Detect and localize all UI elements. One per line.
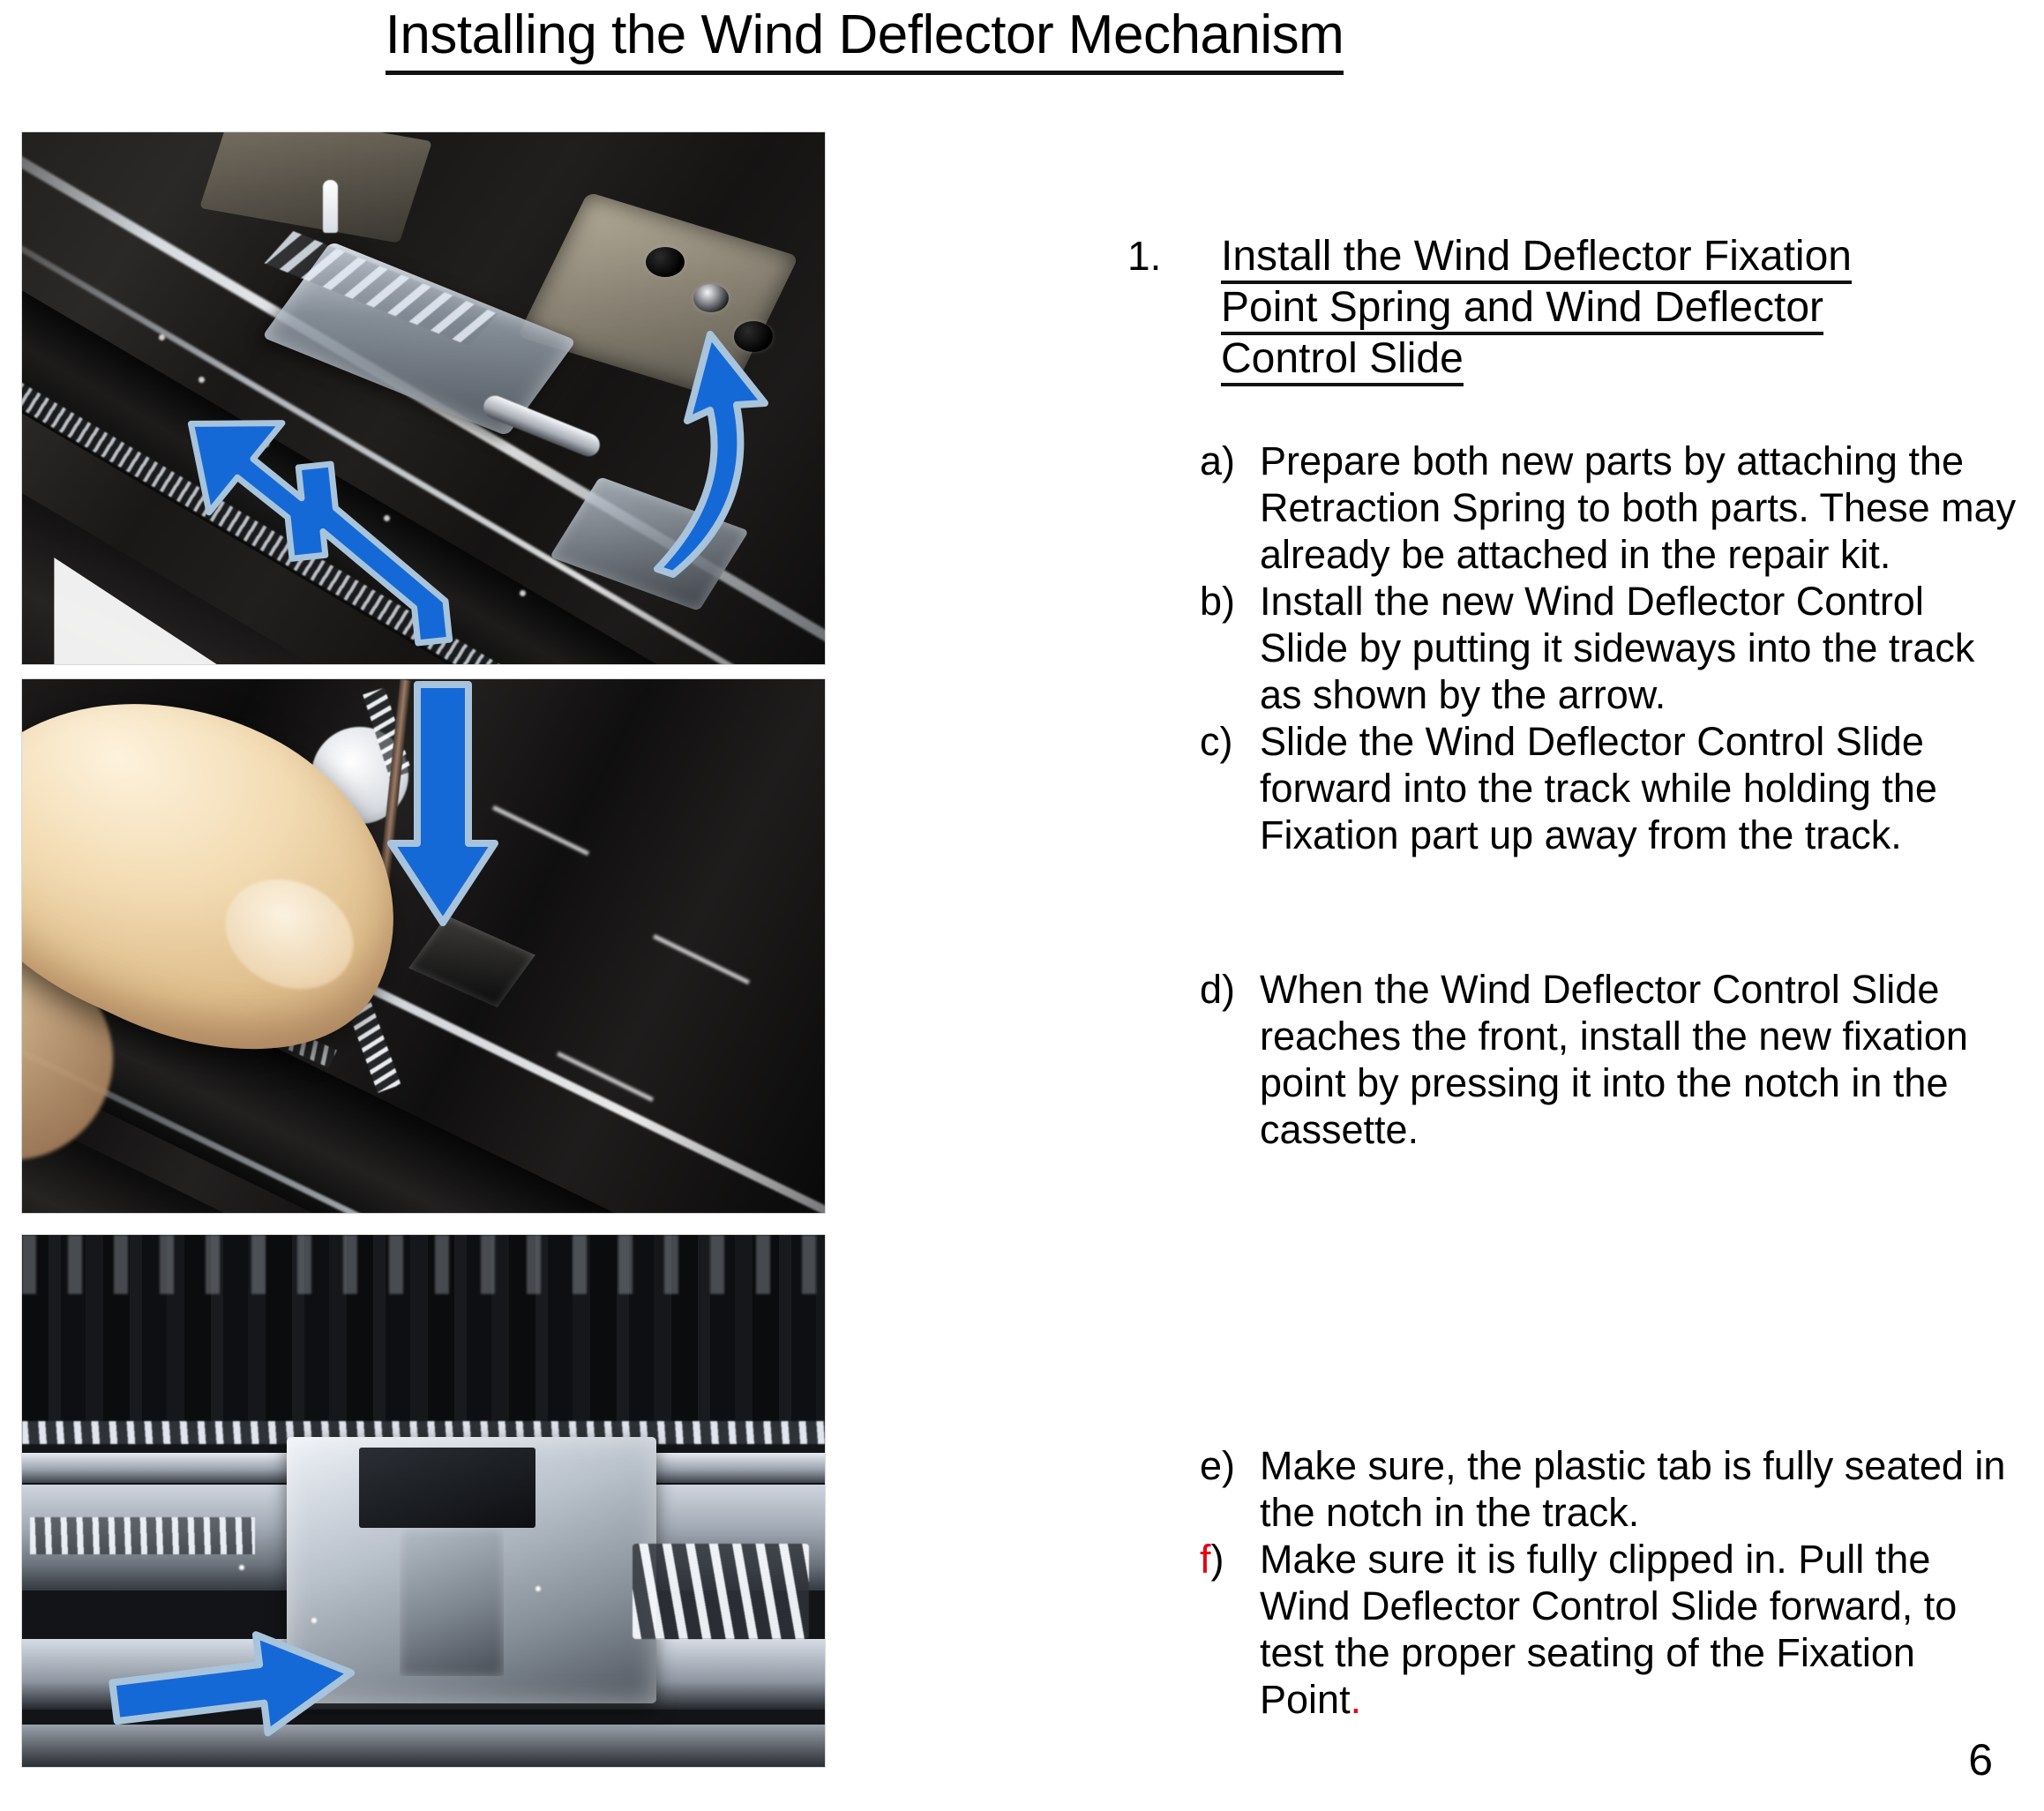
step-1-heading-line-1: Install the Wind Deflector Fixation — [1221, 233, 1852, 284]
photo-3-track-teeth — [30, 1517, 255, 1554]
substep-f-text-red-tail: . — [1351, 1677, 1362, 1722]
photo-tab-seated-in-notch — [22, 1235, 825, 1767]
page-number: 6 — [1968, 1738, 1993, 1782]
substep-d: d) When the Wind Deflector Control Slide… — [1200, 966, 2027, 1153]
substep-c-text: Slide the Wind Deflector Control Slide f… — [1260, 718, 2018, 858]
photo-pressing-fixation-point — [22, 679, 825, 1213]
page-title-text: Installing the Wind Deflector Mechanism — [386, 4, 1344, 75]
substep-f-text-main: Make sure it is fully clipped in. Pull t… — [1260, 1537, 1957, 1722]
spacer-after-substep-d — [1127, 1153, 2027, 1442]
substep-b-marker: b) — [1200, 578, 1260, 625]
substep-d-text: When the Wind Deflector Control Slide re… — [1260, 966, 2018, 1153]
photo-column — [22, 132, 825, 1767]
step-1-heading: Install the Wind Deflector Fixation Poin… — [1221, 231, 1852, 385]
substep-d-marker: d) — [1200, 966, 1260, 1013]
spacer-after-substep-c — [1127, 858, 2027, 966]
substep-c-marker: c) — [1200, 718, 1260, 765]
photo-3-plastic-tab — [400, 1528, 504, 1677]
arrow-right-icon — [107, 1625, 371, 1748]
substep-f-marker: f) — [1200, 1536, 1260, 1583]
page-title: Installing the Wind Deflector Mechanism — [0, 4, 1729, 66]
photo-3-retraction-spring — [633, 1544, 809, 1640]
instruction-list: 1. Install the Wind Deflector Fixation P… — [1127, 231, 2027, 1723]
photo-wind-deflector-slide-in-track — [22, 132, 825, 664]
substep-f-marker-suffix: ) — [1211, 1537, 1224, 1582]
substep-e: e) Make sure, the plastic tab is fully s… — [1200, 1442, 2027, 1536]
substep-a-marker: a) — [1200, 438, 1260, 484]
substep-b: b) Install the new Wind Deflector Contro… — [1200, 578, 2027, 718]
substep-a-text: Prepare both new parts by attaching the … — [1260, 438, 2018, 578]
substep-a: a) Prepare both new parts by attaching t… — [1200, 438, 2027, 578]
step-1-heading-line-2: Point Spring and Wind Deflector — [1221, 284, 1823, 335]
arrow-bent-up-left-icon — [154, 335, 445, 664]
arrow-down-icon — [377, 679, 509, 935]
photo-3-dark-cassette-area — [22, 1235, 825, 1432]
arrow-curved-up-icon — [576, 269, 770, 578]
substep-f-text: Make sure it is fully clipped in. Pull t… — [1260, 1536, 2018, 1723]
photo-3-slide-recess — [359, 1448, 535, 1527]
step-1-heading-line-3: Control Slide — [1221, 335, 1464, 386]
substep-e-marker: e) — [1200, 1442, 1260, 1489]
substep-c: c) Slide the Wind Deflector Control Slid… — [1200, 718, 2027, 858]
photo-1-white-marker — [323, 180, 338, 233]
substep-b-text: Install the new Wind Deflector Control S… — [1260, 578, 2018, 718]
step-1-substeps: a) Prepare both new parts by attaching t… — [1127, 438, 2027, 1723]
step-1: 1. Install the Wind Deflector Fixation P… — [1127, 231, 2027, 385]
substep-f-marker-letter: f — [1200, 1537, 1211, 1582]
step-1-number: 1. — [1127, 231, 1221, 281]
substep-f: f) Make sure it is fully clipped in. Pul… — [1200, 1536, 2027, 1723]
substep-e-text: Make sure, the plastic tab is fully seat… — [1260, 1442, 2018, 1536]
